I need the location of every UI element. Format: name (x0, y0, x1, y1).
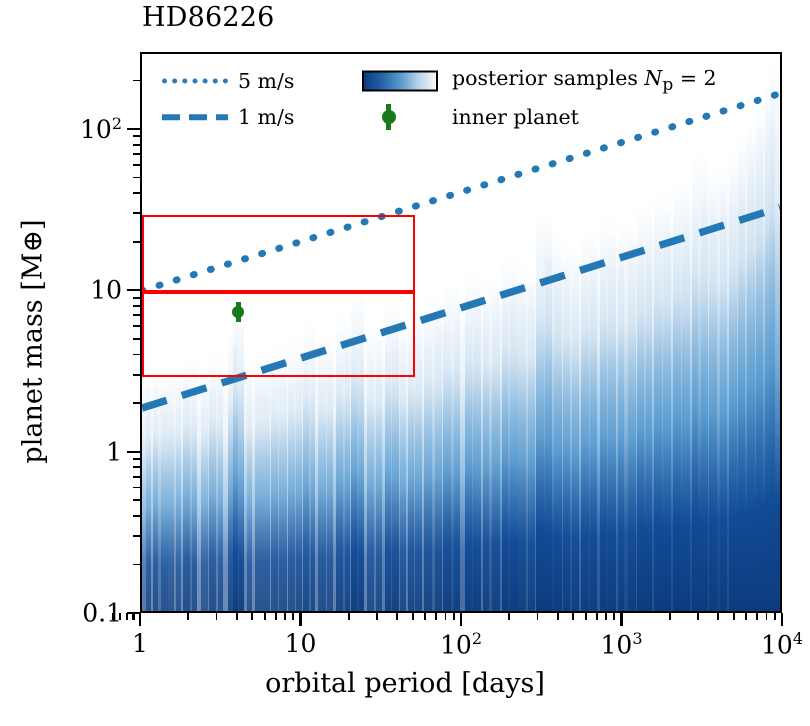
legend-key-5ms (160, 62, 238, 100)
x-axis-minor-tick (613, 613, 615, 620)
dotted-line-icon (162, 79, 228, 84)
y-axis-minor-tick (133, 466, 140, 468)
legend-key-inner-planet (356, 100, 452, 134)
x-axis-minor-tick (669, 613, 671, 620)
x-axis-minor-tick (275, 613, 277, 620)
x-axis-major-tick (139, 613, 141, 626)
x-axis-minor-tick (774, 613, 776, 620)
x-axis-minor-tick (424, 613, 426, 620)
x-axis-tick-label: 1 (132, 629, 148, 658)
x-axis-minor-tick (766, 613, 768, 620)
legend-key-posterior (356, 62, 452, 100)
y-axis-minor-tick (133, 338, 140, 340)
x-axis-minor-tick (605, 613, 607, 620)
y-axis-minor-tick (133, 458, 140, 460)
x-axis-tick-label: 10 (285, 629, 317, 658)
y-axis-minor-tick (133, 314, 140, 316)
x-axis-minor-tick (585, 613, 587, 620)
legend-label-posterior: posterior samples Np = 2 (452, 66, 760, 95)
y-axis-minor-tick (133, 564, 140, 566)
x-axis-minor-tick (251, 613, 253, 620)
x-axis-minor-tick (376, 613, 378, 620)
figure-canvas: HD86226 1101021031041021010.1 orbital pe… (0, 0, 810, 726)
x-axis-minor-tick (435, 613, 437, 620)
x-axis-tick-label: 103 (601, 629, 643, 659)
x-axis-major-tick (781, 613, 783, 626)
y-axis-minor-tick (133, 144, 140, 146)
inner-planet-marker (236, 302, 241, 322)
y-axis-major-tick (127, 289, 140, 291)
y-axis-minor-tick (133, 374, 140, 376)
y-axis-minor-tick (133, 241, 140, 243)
x-axis-minor-tick (348, 613, 350, 620)
x-axis-minor-tick (537, 613, 539, 620)
x-axis-minor-tick (733, 613, 735, 620)
y-axis-minor-tick (133, 192, 140, 194)
x-axis-minor-tick (557, 613, 559, 620)
y-axis-minor-tick (133, 325, 140, 327)
y-axis-minor-tick (133, 297, 140, 299)
y-axis-major-tick (127, 128, 140, 130)
x-axis-minor-tick (216, 613, 218, 620)
legend-posterior-value: = 2 (673, 66, 716, 90)
y-axis-title: planet mass [M⊕] (18, 82, 49, 602)
y-axis-major-tick (127, 612, 140, 614)
x-axis-major-tick (299, 613, 301, 626)
y-axis-minor-tick (133, 476, 140, 478)
x-axis-minor-tick (284, 613, 286, 620)
x-axis-minor-tick (697, 613, 699, 620)
x-axis-minor-tick (745, 613, 747, 620)
x-axis-minor-tick (236, 613, 238, 620)
plot-legend: 5 m/s posterior samples Np = 2 1 m/s inn… (160, 62, 760, 140)
x-axis-tick-label: 104 (761, 629, 803, 659)
legend-posterior-subscript: p (662, 76, 673, 96)
legend-label-inner-planet: inner planet (452, 105, 760, 129)
legend-posterior-symbol: N (644, 66, 662, 90)
legend-label-1ms: 1 m/s (238, 105, 356, 129)
colorbar-icon (362, 71, 438, 92)
y-axis-minor-tick (133, 177, 140, 179)
y-axis-minor-tick (133, 515, 140, 517)
y-axis-minor-tick (133, 499, 140, 501)
x-axis-title: orbital period [days] (0, 668, 810, 699)
y-axis-minor-tick (133, 153, 140, 155)
x-axis-tick-label: 102 (440, 629, 482, 659)
x-axis-minor-tick (187, 613, 189, 620)
x-axis-minor-tick (453, 613, 455, 620)
y-axis-minor-tick (133, 164, 140, 166)
y-axis-minor-tick (133, 487, 140, 489)
x-axis-minor-tick (396, 613, 398, 620)
plot-title: HD86226 (142, 2, 275, 33)
x-axis-minor-tick (445, 613, 447, 620)
dashed-line-icon (162, 114, 228, 120)
x-axis-minor-tick (292, 613, 294, 620)
y-axis-minor-tick (133, 354, 140, 356)
y-axis-minor-tick (133, 212, 140, 214)
detection-box (142, 215, 415, 292)
detection-box (142, 292, 415, 376)
x-axis-minor-tick (572, 613, 574, 620)
y-axis-minor-tick (133, 305, 140, 307)
legend-key-1ms (160, 100, 238, 134)
errorbar-point-icon (386, 104, 391, 130)
legend-posterior-text: posterior samples (452, 66, 638, 90)
y-axis-major-tick (127, 451, 140, 453)
x-axis-major-tick (460, 613, 462, 626)
x-axis-minor-tick (412, 613, 414, 620)
y-axis-minor-tick (133, 535, 140, 537)
legend-label-5ms: 5 m/s (238, 69, 356, 93)
x-axis-minor-tick (508, 613, 510, 620)
x-axis-minor-tick (717, 613, 719, 620)
x-axis-minor-tick (756, 613, 758, 620)
y-axis-minor-tick (133, 402, 140, 404)
y-axis-tick-label: 0.1 (28, 599, 122, 628)
x-axis-minor-tick (596, 613, 598, 620)
x-axis-major-tick (620, 613, 622, 626)
y-axis-minor-tick (133, 135, 140, 137)
x-axis-minor-tick (264, 613, 266, 620)
y-axis-minor-tick (133, 80, 140, 82)
